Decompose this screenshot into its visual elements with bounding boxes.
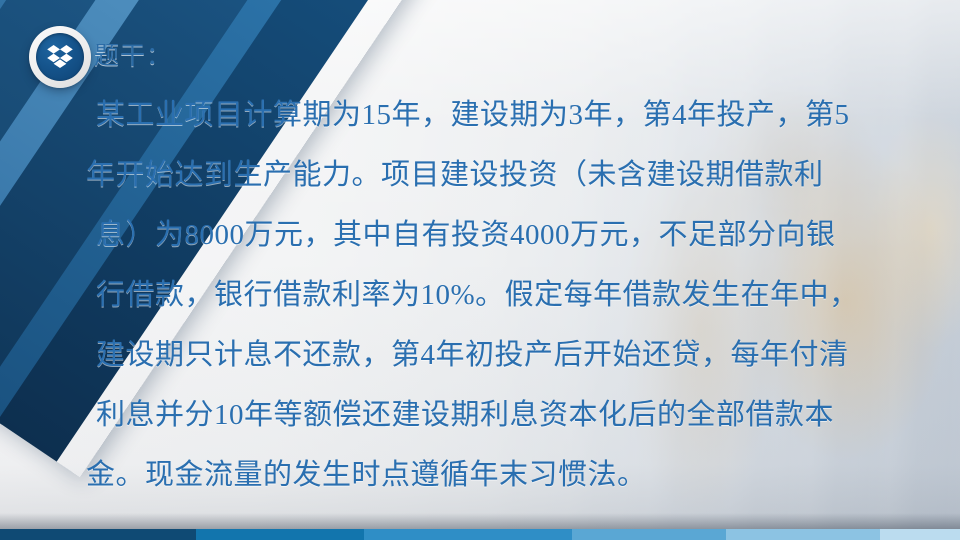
- logo-badge: [29, 26, 91, 88]
- question-paragraph: 某工业项目计算期为15年，建设期为3年，第4年投产，第5 年开始达到生产能力。项…: [86, 85, 926, 505]
- text-line: 建设期只计息不还款，第4年初投产后开始还贷，每年付清: [86, 325, 926, 385]
- footer-bar-segment-3: [364, 529, 572, 540]
- logo-disc: [36, 33, 84, 81]
- slide-text-block: 题干： 某工业项目计算期为15年，建设期为3年，第4年投产，第5 年开始达到生产…: [86, 44, 926, 505]
- dropbox-icon: [47, 45, 73, 69]
- text-line: 利息并分10年等额偿还建设期利息资本化后的全部借款本: [86, 385, 926, 445]
- footer-bar-segment-6: [880, 529, 960, 540]
- page-title: 题干：: [94, 44, 926, 69]
- text-line: 年开始达到生产能力。项目建设投资（未含建设期借款利: [86, 145, 926, 205]
- text-line: 某工业项目计算期为15年，建设期为3年，第4年投产，第5: [86, 85, 926, 145]
- footer-color-bar: [0, 529, 960, 540]
- footer-bar-segment-2: [196, 529, 364, 540]
- presentation-slide: 题干： 某工业项目计算期为15年，建设期为3年，第4年投产，第5 年开始达到生产…: [0, 0, 960, 540]
- footer-bar-segment-1: [0, 529, 196, 540]
- text-line: 行借款，银行借款利率为10%。假定每年借款发生在年中，: [86, 265, 926, 325]
- footer-bar-segment-5: [726, 529, 880, 540]
- text-line: 息）为8000万元，其中自有投资4000万元，不足部分向银: [86, 205, 926, 265]
- footer-bar-segment-4: [572, 529, 726, 540]
- text-line: 金。现金流量的发生时点遵循年末习惯法。: [86, 445, 926, 505]
